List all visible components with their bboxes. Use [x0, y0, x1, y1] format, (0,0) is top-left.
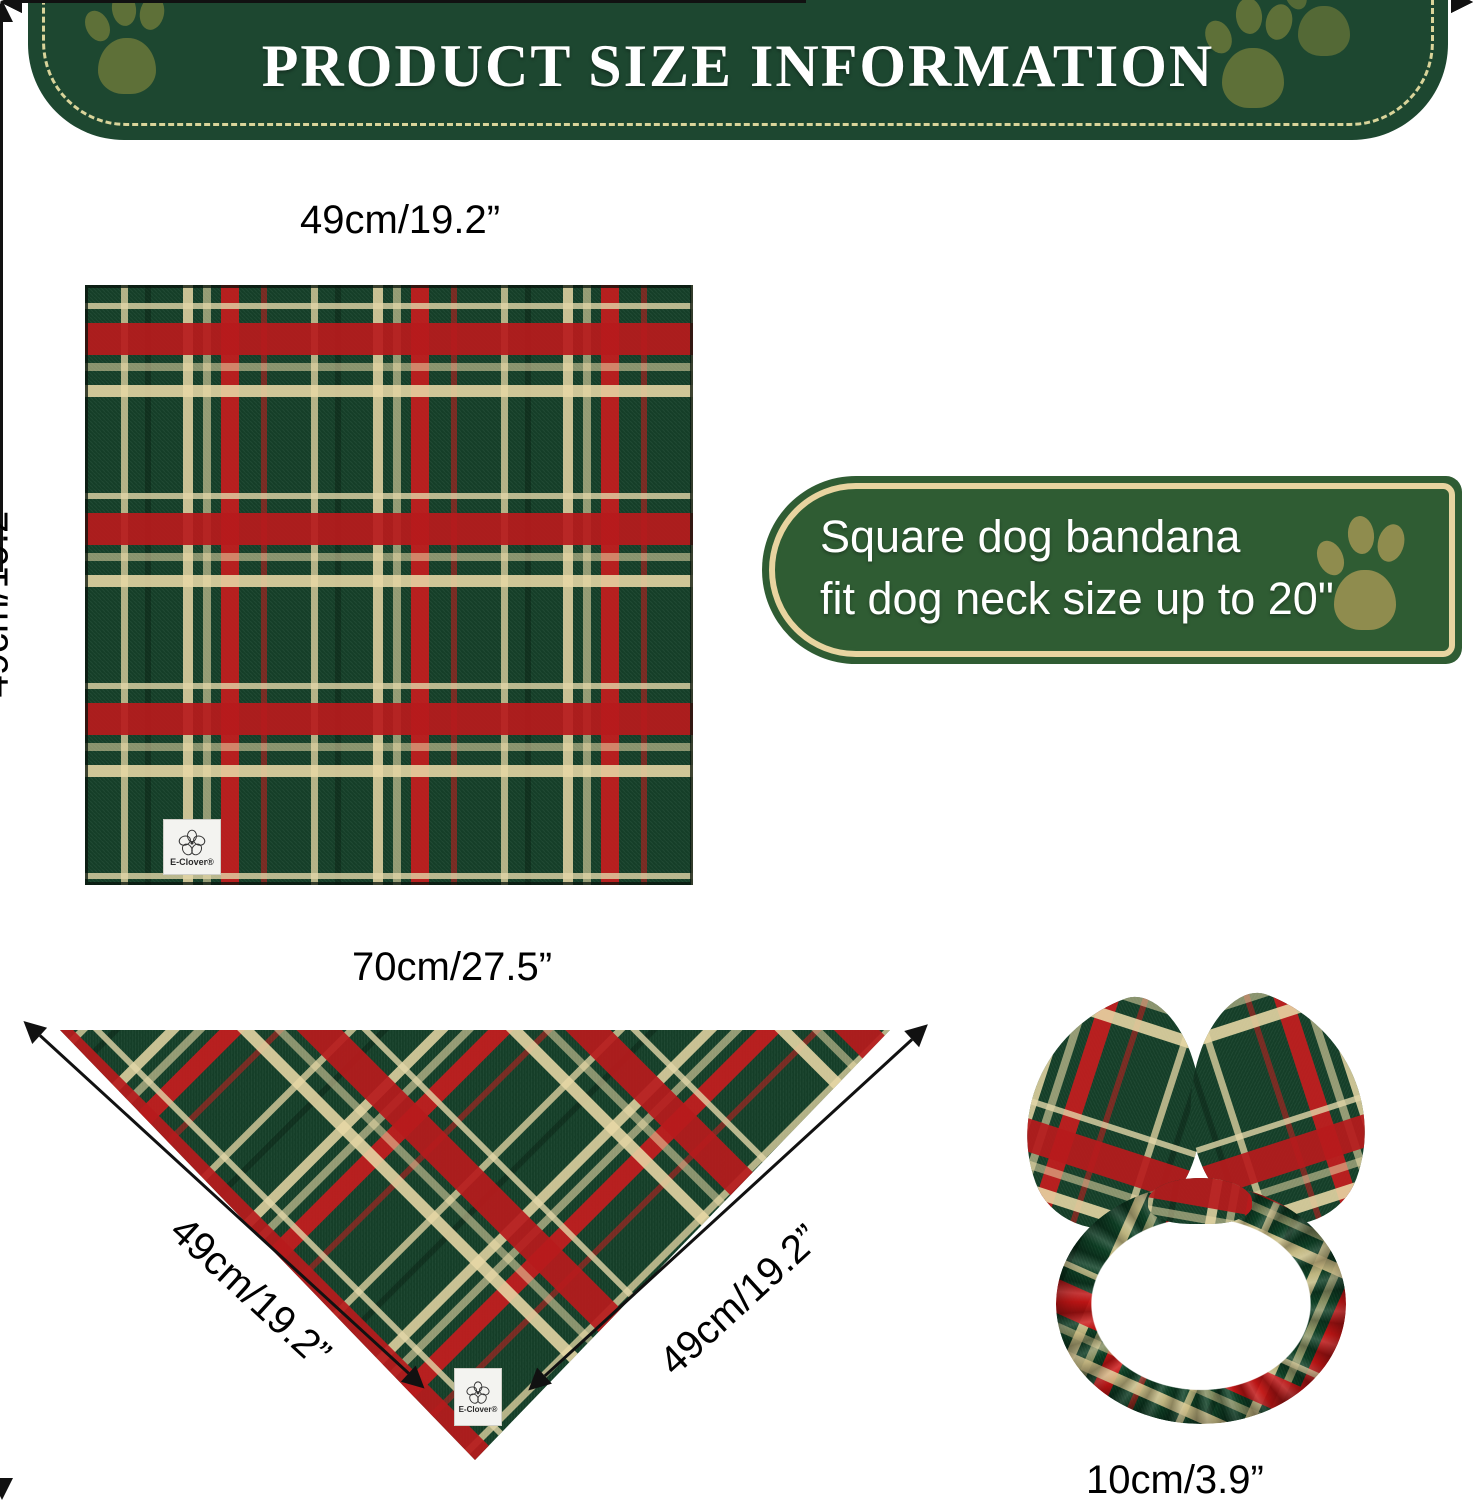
- scrunchie-image: [1008, 1006, 1398, 1426]
- scrunchie-diameter-label: 10cm/3.9”: [1086, 1458, 1264, 1503]
- arrow-head-down: [0, 1478, 13, 1500]
- arrow-shaft: [0, 20, 3, 572]
- plaid-fabric: [1148, 1178, 1252, 1224]
- callout-line-2: fit dog neck size up to 20": [820, 568, 1442, 630]
- arrow-shaft: [20, 0, 340, 3]
- callout-line-1: Square dog bandana: [820, 506, 1442, 568]
- brand-name: E-Clover®: [170, 858, 214, 867]
- clover-logo-icon: [465, 1380, 491, 1406]
- callout-text: Square dog bandana fit dog neck size up …: [820, 506, 1442, 630]
- square-width-label: 49cm/19.2”: [300, 198, 500, 243]
- callout-badge: Square dog bandana fit dog neck size up …: [762, 476, 1462, 664]
- square-height-label: 49cm/19.2”: [0, 497, 18, 697]
- triangle-top-label: 70cm/27.5”: [352, 945, 552, 990]
- plaid-fabric: [85, 285, 693, 885]
- brand-tag: E-Clover®: [454, 1368, 502, 1426]
- square-bandana-image: E-Clover®: [85, 285, 693, 885]
- arrow-head-left: [0, 0, 22, 13]
- arrow-head-right: [1451, 0, 1473, 13]
- page-title: PRODUCT SIZE INFORMATION: [28, 32, 1448, 101]
- clover-logo-icon: [177, 828, 207, 858]
- arrow-head-start: [16, 1013, 47, 1044]
- arrow-head-start: [904, 1016, 935, 1047]
- brand-name: E-Clover®: [459, 1406, 498, 1414]
- header-banner: PRODUCT SIZE INFORMATION: [28, 0, 1448, 140]
- bow-knot: [1148, 1178, 1252, 1224]
- brand-tag: E-Clover®: [163, 819, 221, 875]
